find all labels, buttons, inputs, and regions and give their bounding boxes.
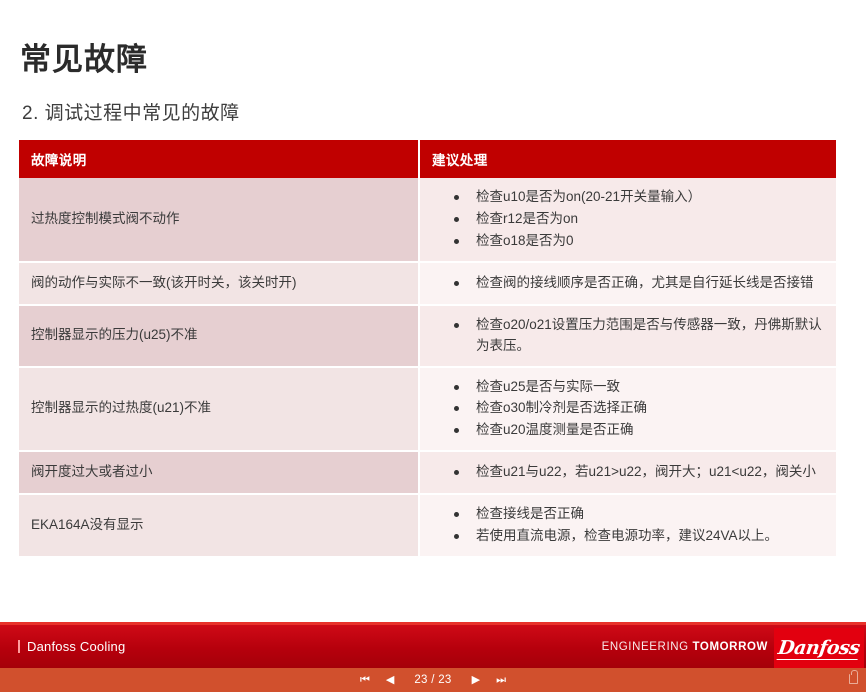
danfoss-wordmark: Danfoss xyxy=(777,639,861,660)
list-item: 检查r12是否为on xyxy=(454,209,824,230)
table-row: 过热度控制模式阀不动作 检查u10是否为on(20-21开关量输入） 检查r12… xyxy=(19,178,836,262)
first-slide-icon[interactable]: ⏮ xyxy=(352,672,378,689)
footer-red-band: Danfoss Cooling ENGINEERING TOMORROW Dan… xyxy=(0,625,866,668)
brand-accent-bar xyxy=(18,640,20,653)
danfoss-logo: Danfoss xyxy=(774,628,864,671)
table-row: EKA164A没有显示 检查接线是否正确 若使用直流电源，检查电源功率，建议24… xyxy=(19,494,836,557)
page-title: 常见故障 xyxy=(20,34,148,79)
table-header-row: 故障说明 建议处理 xyxy=(19,140,836,178)
action-list: 检查u10是否为on(20-21开关量输入） 检查r12是否为on 检查o18是… xyxy=(428,187,824,252)
fault-cell: 阀开度过大或者过小 xyxy=(19,451,419,494)
action-list: 检查o20/o21设置压力范围是否与传感器一致，丹佛斯默认为表压。 xyxy=(428,315,824,357)
fault-cell: 阀的动作与实际不一致(该开时关，该关时开) xyxy=(19,262,419,305)
action-list: 检查u25是否与实际一致 检查o30制冷剂是否选择正确 检查u20温度测量是否正… xyxy=(428,377,824,442)
table-row: 控制器显示的压力(u25)不准 检查o20/o21设置压力范围是否与传感器一致，… xyxy=(19,305,836,367)
action-list: 检查接线是否正确 若使用直流电源，检查电源功率，建议24VA以上。 xyxy=(428,504,824,547)
fault-cell: EKA164A没有显示 xyxy=(19,494,419,557)
action-cell: 检查阀的接线顺序是否正确，尤其是自行延长线是否接错 xyxy=(419,262,836,305)
slide-subtitle: 2. 调试过程中常见的故障 xyxy=(22,98,240,125)
column-header-fault: 故障说明 xyxy=(19,140,419,178)
fault-table: 故障说明 建议处理 过热度控制模式阀不动作 检查u10是否为on(20-21开关… xyxy=(19,140,836,558)
slide-canvas: 常见故障 2. 调试过程中常见的故障 故障说明 建议处理 过热度控制模式阀不动作… xyxy=(0,0,866,622)
table-row: 阀开度过大或者过小 检查u21与u22，若u21>u22，阀开大；u21<u22… xyxy=(19,451,836,494)
fault-cell: 过热度控制模式阀不动作 xyxy=(19,178,419,262)
tagline: ENGINEERING TOMORROW xyxy=(602,641,768,653)
table-body: 过热度控制模式阀不动作 检查u10是否为on(20-21开关量输入） 检查r12… xyxy=(19,178,836,557)
list-item: 检查u25是否与实际一致 xyxy=(454,377,824,398)
list-item: 检查阀的接线顺序是否正确，尤其是自行延长线是否接错 xyxy=(454,273,824,294)
list-item: 检查o30制冷剂是否选择正确 xyxy=(454,398,824,419)
action-cell: 检查接线是否正确 若使用直流电源，检查电源功率，建议24VA以上。 xyxy=(419,494,836,557)
action-list: 检查u21与u22，若u21>u22，阀开大；u21<u22，阀关小 xyxy=(428,462,824,483)
tagline-bold: TOMORROW xyxy=(693,641,769,653)
action-cell: 检查o20/o21设置压力范围是否与传感器一致，丹佛斯默认为表压。 xyxy=(419,305,836,367)
table-row: 控制器显示的过热度(u21)不准 检查u25是否与实际一致 检查o30制冷剂是否… xyxy=(19,367,836,452)
fault-cell: 控制器显示的压力(u25)不准 xyxy=(19,305,419,367)
lock-icon xyxy=(849,674,858,684)
previous-slide-icon[interactable]: ◀ xyxy=(378,672,402,689)
list-item: 检查u21与u22，若u21>u22，阀开大；u21<u22，阀关小 xyxy=(454,462,824,483)
list-item: 若使用直流电源，检查电源功率，建议24VA以上。 xyxy=(454,526,824,547)
list-item: 检查接线是否正确 xyxy=(454,504,824,525)
tagline-light: ENGINEERING xyxy=(602,641,689,653)
next-slide-icon[interactable]: ▶ xyxy=(464,672,488,689)
list-item: 检查o18是否为0 xyxy=(454,231,824,252)
brand-label: Danfoss Cooling xyxy=(18,639,125,654)
list-item: 检查u10是否为on(20-21开关量输入） xyxy=(454,187,824,208)
brand-text: Danfoss Cooling xyxy=(27,639,125,654)
action-cell: 检查u10是否为on(20-21开关量输入） 检查r12是否为on 检查o18是… xyxy=(419,178,836,262)
table-row: 阀的动作与实际不一致(该开时关，该关时开) 检查阀的接线顺序是否正确，尤其是自行… xyxy=(19,262,836,305)
presentation-navbar: ⏮ ◀ 23 / 23 ▶ ⏭ xyxy=(0,668,866,692)
slide-footer: Danfoss Cooling ENGINEERING TOMORROW Dan… xyxy=(0,622,866,692)
action-cell: 检查u25是否与实际一致 检查o30制冷剂是否选择正确 检查u20温度测量是否正… xyxy=(419,367,836,452)
list-item: 检查u20温度测量是否正确 xyxy=(454,420,824,441)
last-slide-icon[interactable]: ⏭ xyxy=(488,672,514,689)
list-item: 检查o20/o21设置压力范围是否与传感器一致，丹佛斯默认为表压。 xyxy=(454,315,824,357)
column-header-action: 建议处理 xyxy=(419,140,836,178)
action-list: 检查阀的接线顺序是否正确，尤其是自行延长线是否接错 xyxy=(428,273,824,294)
action-cell: 检查u21与u22，若u21>u22，阀开大；u21<u22，阀关小 xyxy=(419,451,836,494)
fault-cell: 控制器显示的过热度(u21)不准 xyxy=(19,367,419,452)
page-indicator: 23 / 23 xyxy=(402,674,463,686)
